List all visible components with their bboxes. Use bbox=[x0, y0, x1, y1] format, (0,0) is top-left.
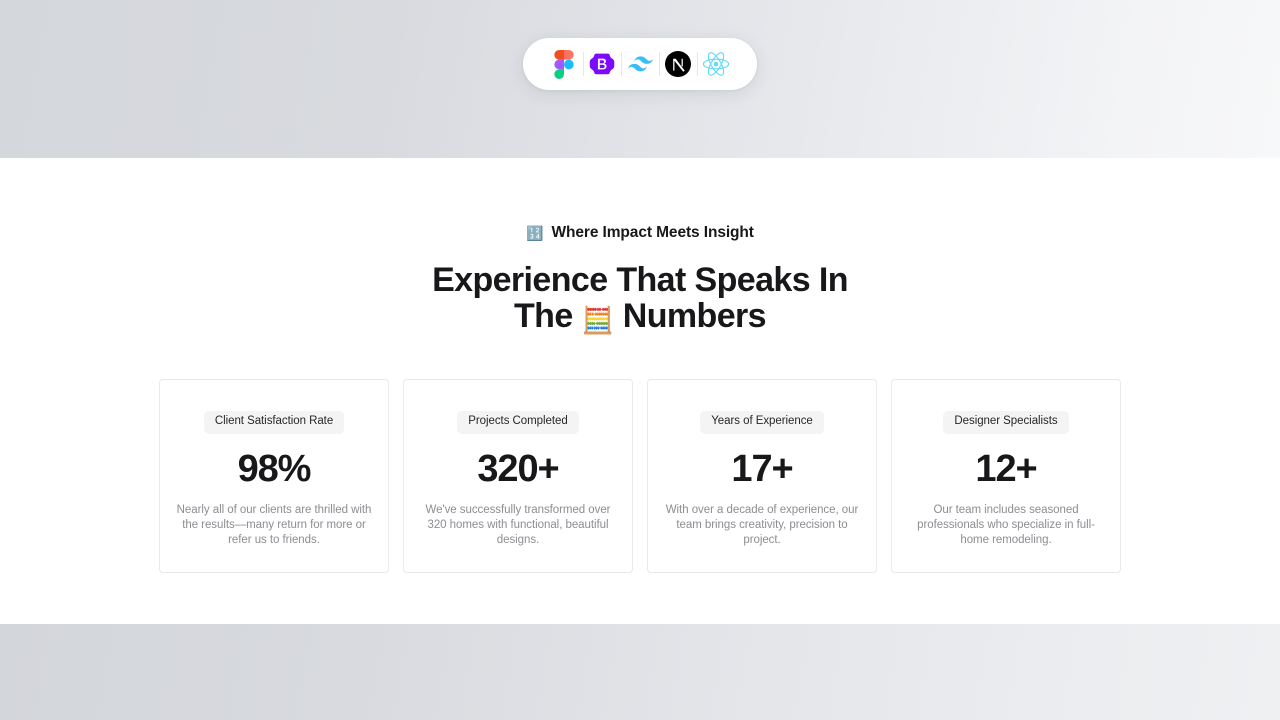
eyebrow-label: Where Impact Meets Insight bbox=[551, 225, 753, 241]
top-gradient-band bbox=[0, 0, 1280, 158]
figma-icon bbox=[554, 50, 574, 79]
status-badge: Projects Completed bbox=[457, 411, 578, 434]
abacus-icon: 🧮 bbox=[582, 305, 614, 335]
headline-the: The bbox=[514, 297, 573, 335]
bootstrap-icon bbox=[589, 53, 615, 75]
tech-item-figma[interactable] bbox=[545, 48, 583, 80]
stat-card: Client Satisfaction Rate 98% Nearly all … bbox=[159, 379, 389, 573]
stats-card-row: Client Satisfaction Rate 98% Nearly all … bbox=[159, 379, 1121, 573]
stat-description: We've successfully transformed over 320 … bbox=[420, 503, 616, 549]
status-badge: Designer Specialists bbox=[943, 411, 1068, 434]
stat-description: With over a decade of experience, our te… bbox=[664, 503, 860, 549]
react-icon bbox=[702, 51, 730, 77]
tech-item-react[interactable] bbox=[697, 48, 735, 80]
stat-card: Projects Completed 320+ We've successful… bbox=[403, 379, 633, 573]
stat-value: 320+ bbox=[477, 449, 558, 489]
status-badge: Client Satisfaction Rate bbox=[204, 411, 344, 434]
tech-item-nextjs[interactable] bbox=[659, 48, 697, 80]
stat-value: 98% bbox=[238, 449, 311, 489]
stat-value: 17+ bbox=[731, 449, 792, 489]
stat-card: Designer Specialists 12+ Our team includ… bbox=[891, 379, 1121, 573]
stat-card: Years of Experience 17+ With over a deca… bbox=[647, 379, 877, 573]
headline-line-1: Experience That Speaks In bbox=[432, 261, 848, 299]
section-eyebrow: 🔢 Where Impact Meets Insight bbox=[526, 224, 754, 242]
tech-item-tailwind[interactable] bbox=[621, 48, 659, 80]
stats-section: 🔢 Where Impact Meets Insight Experience … bbox=[0, 158, 1280, 624]
stat-description: Nearly all of our clients are thrilled w… bbox=[176, 503, 372, 549]
stat-description: Our team includes seasoned professionals… bbox=[908, 503, 1104, 549]
headline-numbers: Numbers bbox=[623, 297, 766, 335]
stat-value: 12+ bbox=[975, 449, 1036, 489]
nextjs-icon bbox=[665, 51, 691, 77]
bottom-gradient-band bbox=[0, 624, 1280, 720]
tailwind-icon bbox=[628, 56, 653, 72]
input-numbers-icon: 🔢 bbox=[526, 226, 543, 240]
status-badge: Years of Experience bbox=[700, 411, 824, 434]
page-title: Experience That Speaks InThe 🧮 Numbers bbox=[432, 262, 848, 338]
tech-stack-pill bbox=[523, 38, 757, 90]
page-root: 🔢 Where Impact Meets Insight Experience … bbox=[0, 0, 1280, 720]
tech-item-bootstrap[interactable] bbox=[583, 48, 621, 80]
